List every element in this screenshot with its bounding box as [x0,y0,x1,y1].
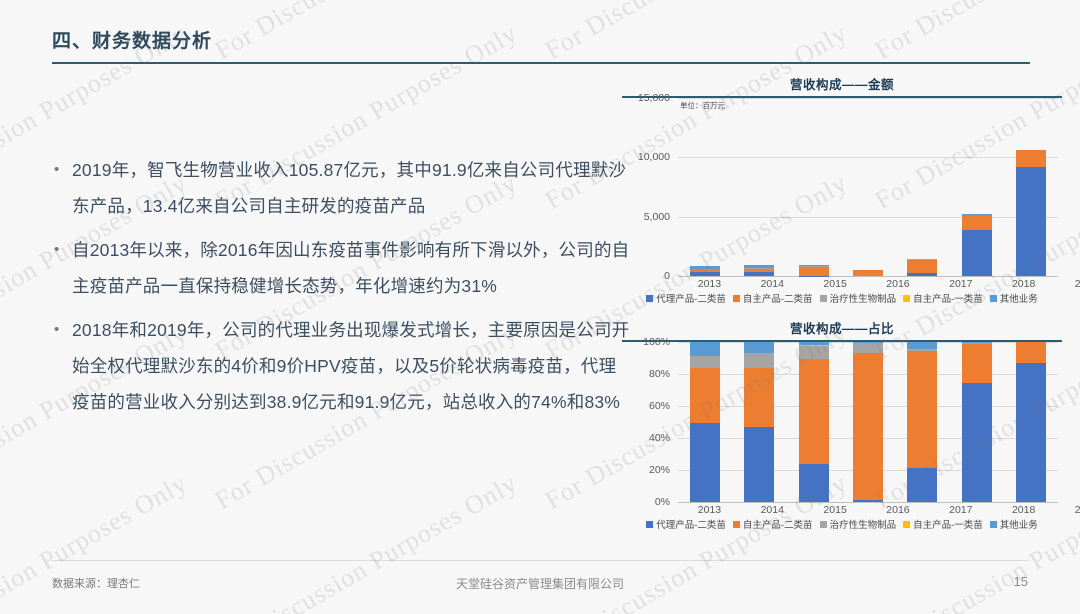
chart-amount-y-axis: 05,00010,00015,000 [622,98,674,276]
legend-swatch-icon [733,295,740,302]
bar-segment[interactable] [907,468,937,502]
bar-segment[interactable] [799,346,829,360]
bullet-marker-icon: • [50,312,72,420]
slide-root: For Discussion Purposes OnlyFor Discussi… [0,0,1080,614]
x-axis-tick-label: 2017 [946,504,976,516]
x-axis-tick-label: 2016 [883,278,913,290]
legend-swatch-icon [646,295,653,302]
bullet-marker-icon: • [50,232,72,304]
bar-column[interactable] [853,98,883,276]
bar-segment[interactable] [1016,167,1046,276]
bar-segment[interactable] [853,500,883,502]
bar-column[interactable] [744,342,774,502]
slide-footer: 数据来源：理杏仁 天堂硅谷资产管理集团有限公司 15 [0,560,1080,614]
bar-segment[interactable] [690,356,720,368]
legend-item[interactable]: 自主产品-二类苗 [733,291,813,305]
x-axis-tick-label: 2019 [1071,278,1080,290]
bar-column[interactable] [799,98,829,276]
chart-share-x-axis: 2013201420152016201720182019 [678,504,1080,516]
bar-column[interactable] [744,98,774,276]
x-axis-tick-label: 2014 [757,278,787,290]
legend-item[interactable]: 其他业务 [990,291,1038,305]
chart-amount-bars [678,98,1058,276]
footer-page-number: 15 [1014,574,1028,589]
y-axis-tick-label: 80% [649,368,670,380]
bar-segment[interactable] [962,344,992,383]
bar-segment[interactable] [962,383,992,502]
bar-segment[interactable] [799,464,829,502]
chart-amount-plot: 单位：百万元 05,00010,00015,000 [622,98,1062,276]
bar-segment[interactable] [962,230,992,276]
chart-share-y-axis: 0%20%40%60%80%100% [622,342,674,502]
legend-swatch-icon [646,521,653,528]
y-axis-tick-label: 10,000 [638,151,670,163]
y-axis-tick-label: 40% [649,432,670,444]
x-axis-tick-label: 2019 [1071,504,1080,516]
bar-segment[interactable] [744,353,774,368]
bar-column[interactable] [690,342,720,502]
y-axis-tick-label: 15,000 [638,92,670,104]
y-axis-tick-label: 5,000 [644,211,670,223]
chart-share-plot: 0%20%40%60%80%100% [622,342,1062,502]
legend-label: 自主产品-二类苗 [743,517,813,531]
legend-item[interactable]: 其他业务 [990,517,1038,531]
bar-segment[interactable] [907,273,937,276]
page-title: 四、财务数据分析 [52,26,1032,53]
chart-revenue-amount: 营收构成——金额 单位：百万元 05,00010,00015,000 20132… [622,74,1062,318]
bar-segment[interactable] [744,427,774,502]
footer-divider [52,560,1028,561]
chart-amount-title: 营收构成——金额 [622,74,1062,96]
legend-swatch-icon [820,521,827,528]
bar-segment[interactable] [744,368,774,427]
bullet-item: •自2013年以来，除2016年因山东疫苗事件影响有所下滑以外，公司的自主疫苗产… [50,232,630,304]
legend-item[interactable]: 治疗性生物制品 [820,291,897,305]
x-axis-tick-label: 2018 [1009,504,1039,516]
chart-share-bars [678,342,1058,502]
x-axis-tick-label: 2018 [1009,278,1039,290]
x-axis-tick-label: 2015 [820,504,850,516]
chart-amount-unit-label: 单位：百万元 [680,100,725,111]
bar-column[interactable] [690,98,720,276]
legend-item[interactable]: 自主产品-一类苗 [903,517,983,531]
bar-segment[interactable] [799,359,829,464]
legend-label: 自主产品-一类苗 [913,291,983,305]
legend-swatch-icon [903,295,910,302]
chart-share-title: 营收构成——占比 [622,318,1062,340]
bar-segment[interactable] [744,272,774,276]
bar-segment[interactable] [690,423,720,502]
legend-label: 自主产品-一类苗 [913,517,983,531]
bar-column[interactable] [907,342,937,502]
bar-column[interactable] [962,342,992,502]
bullet-list: •2019年，智飞生物营业收入105.87亿元，其中91.9亿来自公司代理默沙东… [50,152,630,428]
bullet-text: 2019年，智飞生物营业收入105.87亿元，其中91.9亿来自公司代理默沙东产… [72,152,630,224]
title-divider [52,62,1030,64]
bar-segment[interactable] [1016,363,1046,502]
legend-item[interactable]: 代理产品-二类苗 [646,517,726,531]
chart-amount-legend: 代理产品-二类苗自主产品-二类苗治疗性生物制品自主产品-一类苗其他业务 [622,291,1062,305]
legend-label: 自主产品-二类苗 [743,291,813,305]
bar-segment[interactable] [1016,342,1046,363]
gridline [678,502,1058,503]
legend-label: 治疗性生物制品 [830,517,897,531]
chart-revenue-share: 营收构成——占比 0%20%40%60%80%100% 201320142015… [622,318,1062,548]
bar-segment[interactable] [690,368,720,423]
legend-swatch-icon [990,295,997,302]
bar-segment[interactable] [744,342,774,353]
bar-segment[interactable] [907,351,937,468]
x-axis-tick-label: 2016 [883,504,913,516]
bar-segment[interactable] [853,343,883,353]
y-axis-tick-label: 60% [649,400,670,412]
legend-label: 其他业务 [1000,517,1038,531]
legend-label: 代理产品-二类苗 [656,291,726,305]
y-axis-tick-label: 20% [649,464,670,476]
bar-column[interactable] [1016,98,1046,276]
legend-label: 其他业务 [1000,291,1038,305]
legend-item[interactable]: 代理产品-二类苗 [646,291,726,305]
x-axis-tick-label: 2017 [946,278,976,290]
bar-segment[interactable] [690,272,720,276]
bar-column[interactable] [1016,342,1046,502]
bullet-item: •2019年，智飞生物营业收入105.87亿元，其中91.9亿来自公司代理默沙东… [50,152,630,224]
bullet-text: 2018年和2019年，公司的代理业务出现爆发式增长，主要原因是公司开始全权代理… [72,312,630,420]
bullet-text: 自2013年以来，除2016年因山东疫苗事件影响有所下滑以外，公司的自主疫苗产品… [72,232,630,304]
legend-label: 治疗性生物制品 [830,291,897,305]
legend-swatch-icon [733,521,740,528]
footer-company-name: 天堂硅谷资产管理集团有限公司 [0,575,1080,592]
x-axis-tick-label: 2013 [694,278,724,290]
chart-amount-x-axis: 2013201420152016201720182019 [678,278,1080,290]
legend-swatch-icon [903,521,910,528]
bar-segment[interactable] [690,342,720,356]
y-axis-tick-label: 0 [664,270,670,282]
bar-column[interactable] [907,98,937,276]
gridline [678,276,1058,277]
bar-segment[interactable] [962,215,992,230]
bar-segment[interactable] [907,260,937,274]
y-axis-tick-label: 100% [643,336,670,348]
legend-label: 代理产品-二类苗 [656,517,726,531]
y-axis-tick-label: 0% [655,496,670,508]
bar-column[interactable] [962,98,992,276]
legend-swatch-icon [990,521,997,528]
bar-segment[interactable] [1016,150,1046,166]
slide-header: 四、财务数据分析 [52,26,1032,64]
legend-item[interactable]: 自主产品-一类苗 [903,291,983,305]
x-axis-tick-label: 2013 [694,504,724,516]
legend-item[interactable]: 自主产品-二类苗 [733,517,813,531]
bar-column[interactable] [853,342,883,502]
bar-segment[interactable] [799,267,829,276]
legend-item[interactable]: 治疗性生物制品 [820,517,897,531]
x-axis-tick-label: 2014 [757,504,787,516]
bar-column[interactable] [799,342,829,502]
bullet-marker-icon: • [50,152,72,224]
x-axis-tick-label: 2015 [820,278,850,290]
bullet-item: •2018年和2019年，公司的代理业务出现爆发式增长，主要原因是公司开始全权代… [50,312,630,420]
bar-segment[interactable] [853,353,883,501]
chart-share-legend: 代理产品-二类苗自主产品-二类苗治疗性生物制品自主产品-一类苗其他业务 [622,517,1062,531]
legend-swatch-icon [820,295,827,302]
bar-segment[interactable] [907,342,937,349]
